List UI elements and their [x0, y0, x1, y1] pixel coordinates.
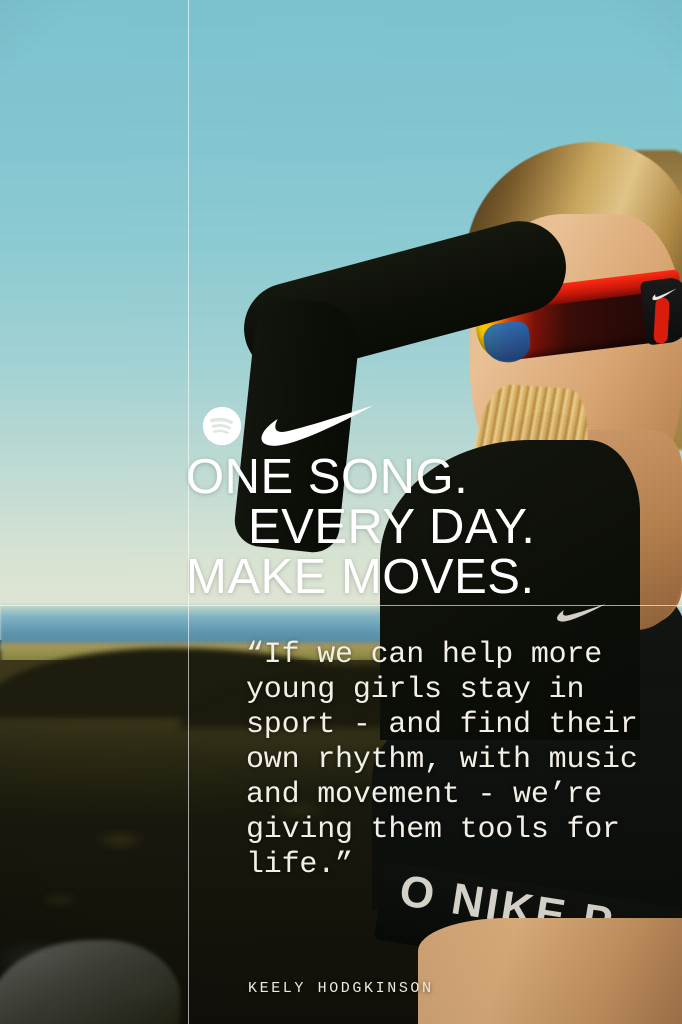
- sunglasses-temple-accent: [653, 297, 669, 344]
- pull-quote: “If we can help more young girls stay in…: [246, 638, 682, 883]
- headline-line-2: EVERY DAY.: [186, 502, 682, 552]
- nike-swoosh-icon-top: [556, 602, 606, 624]
- logo-lockup: [202, 404, 378, 448]
- poster-canvas: O NIKE P ONE SONG. EVERY DAY. MAKE MOVES…: [0, 0, 682, 1024]
- nike-swoosh-logo-icon: [256, 404, 378, 448]
- headline: ONE SONG. EVERY DAY. MAKE MOVES.: [186, 452, 682, 602]
- midriff-skin: [418, 918, 682, 1024]
- spotify-logo-icon: [202, 406, 242, 446]
- headline-line-3: MAKE MOVES.: [186, 552, 682, 602]
- quote-attribution: KEELY HODGKINSON: [248, 980, 434, 997]
- headline-line-1: ONE SONG.: [186, 452, 682, 502]
